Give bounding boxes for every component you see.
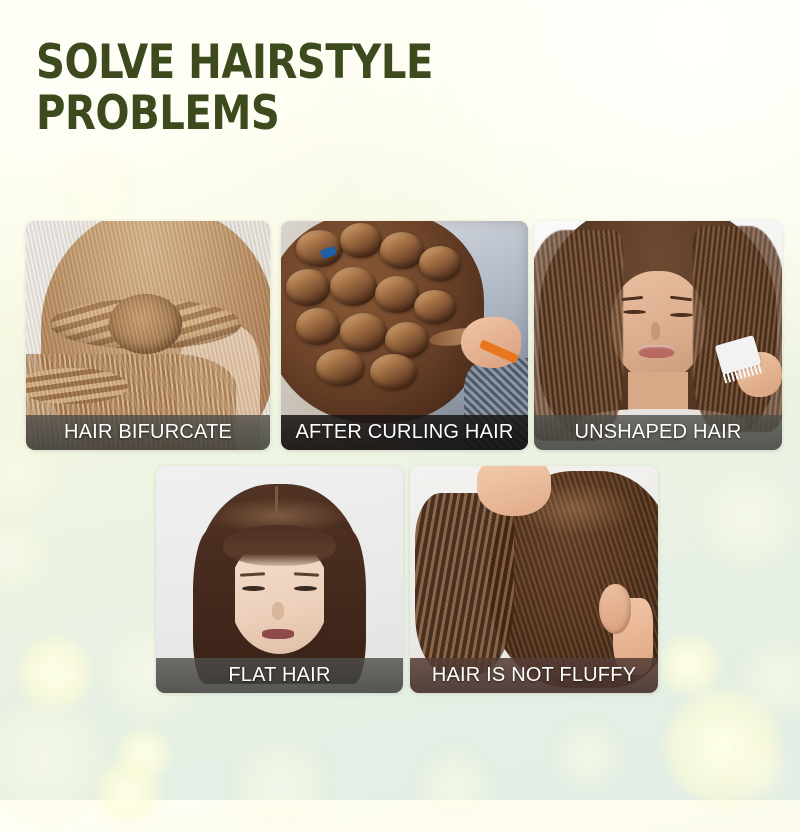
curl (330, 267, 377, 306)
card-caption: HAIR IS NOT FLUFFY (410, 658, 658, 693)
curl (375, 276, 419, 313)
hand (477, 466, 551, 516)
problem-card-unshaped-hair[interactable]: UNSHAPED HAIR (534, 221, 782, 450)
nose (651, 322, 661, 340)
card-caption: UNSHAPED HAIR (534, 415, 782, 450)
card-caption: HAIR BIFURCATE (26, 415, 270, 450)
frizzy-hair-right (693, 226, 782, 432)
curl (340, 223, 382, 257)
frizzy-hair-left (534, 230, 623, 441)
ear (599, 584, 631, 634)
eye (670, 313, 692, 317)
card-caption: AFTER CURLING HAIR (281, 415, 528, 450)
hair-part (275, 486, 278, 513)
curl (380, 232, 424, 269)
curl (414, 290, 456, 324)
problem-card-flat-hair[interactable]: FLAT HAIR (156, 466, 403, 693)
card-caption: FLAT HAIR (156, 658, 403, 693)
problem-card-hair-is-not-fluffy[interactable]: HAIR IS NOT FLUFFY (410, 466, 658, 693)
ponytail (415, 493, 514, 675)
mouth (638, 345, 675, 359)
problem-card-grid: HAIR BIFURCATE AFTER CURLING HAIR (0, 0, 800, 800)
mouth (262, 629, 294, 638)
curl (296, 308, 340, 345)
curl (296, 230, 343, 267)
curl (316, 349, 365, 386)
bangs (223, 525, 337, 566)
curl (419, 246, 461, 280)
curl (370, 354, 417, 391)
curl (340, 313, 387, 352)
problem-card-after-curling-hair[interactable]: AFTER CURLING HAIR (281, 221, 528, 450)
problem-card-hair-bifurcate[interactable]: HAIR BIFURCATE (26, 221, 270, 450)
curl (286, 269, 330, 306)
